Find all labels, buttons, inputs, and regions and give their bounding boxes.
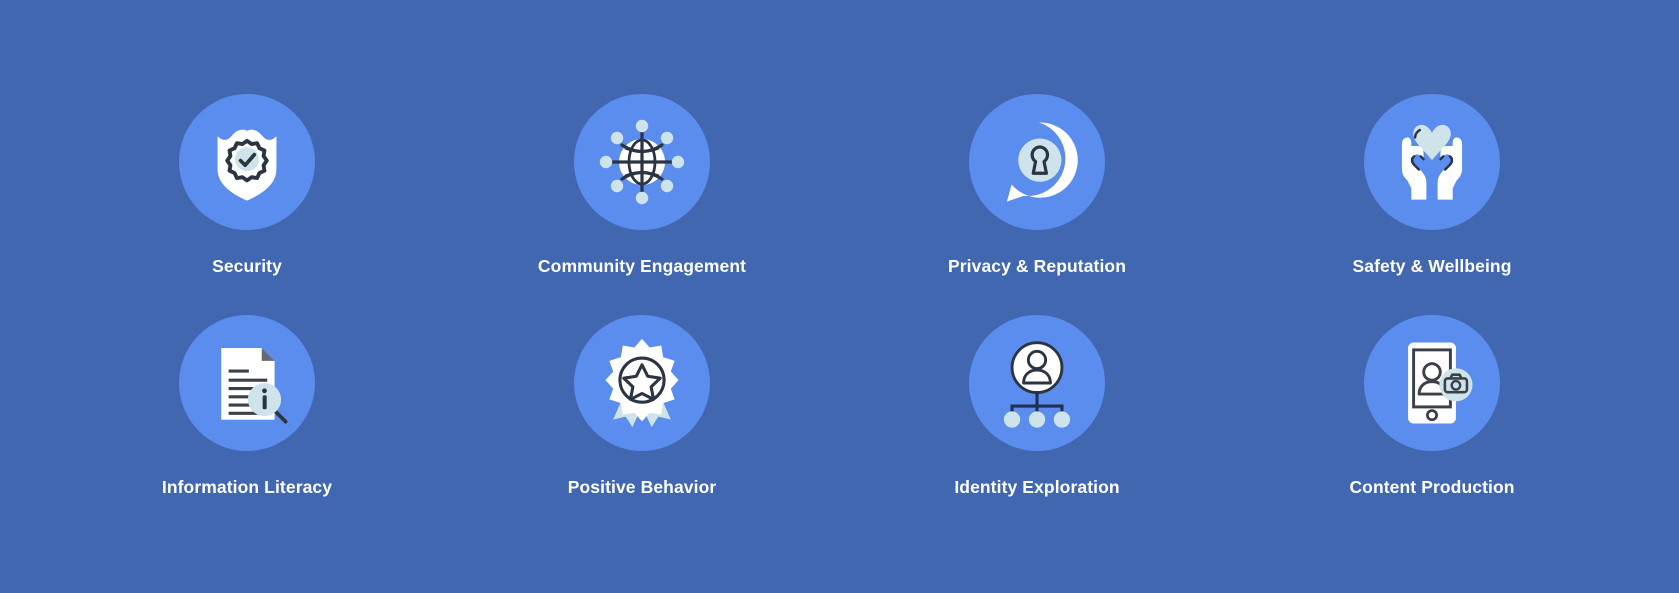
topic-icon-circle <box>574 315 710 451</box>
topic-icon-circle <box>179 94 315 230</box>
topic-label: Security <box>212 256 282 277</box>
topic-item-identity-exploration[interactable]: Identity Exploration <box>840 315 1235 498</box>
topic-icon-circle <box>179 315 315 451</box>
topic-label: Content Production <box>1349 477 1514 498</box>
topic-label: Community Engagement <box>538 256 746 277</box>
topic-label: Information Literacy <box>162 477 332 498</box>
speech-bubble-keyhole-icon <box>990 115 1084 209</box>
topic-label: Identity Exploration <box>954 477 1119 498</box>
topic-icon-circle <box>969 94 1105 230</box>
topics-board: Security <box>0 0 1679 593</box>
topic-label: Positive Behavior <box>568 477 717 498</box>
smartphone-camera-person-icon <box>1386 337 1478 429</box>
topic-item-community-engagement[interactable]: Community Engagement <box>445 94 840 277</box>
topic-label: Safety & Wellbeing <box>1352 256 1511 277</box>
topic-item-content-production[interactable]: Content Production <box>1235 315 1630 498</box>
topic-icon-circle <box>1364 94 1500 230</box>
topic-item-safety-wellbeing[interactable]: Safety & Wellbeing <box>1235 94 1630 277</box>
globe-network-icon <box>592 112 692 212</box>
topic-item-information-literacy[interactable]: Information Literacy <box>50 315 445 498</box>
topic-item-positive-behavior[interactable]: Positive Behavior <box>445 315 840 498</box>
topic-icon-circle <box>969 315 1105 451</box>
person-network-tree-icon <box>989 335 1085 431</box>
topic-item-privacy-reputation[interactable]: Privacy & Reputation <box>840 94 1235 277</box>
topics-grid: Security <box>50 90 1630 498</box>
topic-icon-circle <box>1364 315 1500 451</box>
shield-gear-check-icon <box>201 116 293 208</box>
topic-item-security[interactable]: Security <box>50 94 445 277</box>
topic-icon-circle <box>574 94 710 230</box>
topic-label: Privacy & Reputation <box>948 256 1126 277</box>
document-magnifier-info-icon <box>201 337 293 429</box>
award-rosette-star-icon <box>594 335 690 431</box>
hands-holding-heart-icon <box>1385 115 1479 209</box>
